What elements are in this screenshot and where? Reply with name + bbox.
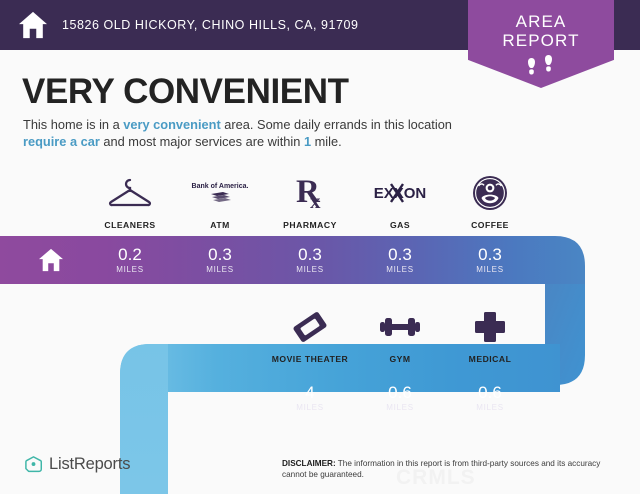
amenity-gas: EXXON GAS: [355, 172, 445, 230]
page-description: This home is in a very convenient area. …: [23, 116, 453, 150]
distance-value: 0.6: [388, 384, 412, 402]
area-report-badge: [468, 0, 614, 88]
distance-unit: MILES: [476, 403, 504, 412]
area-report-page: 15826 OLD HICKORY, CHINO HILLS, CA, 9170…: [0, 0, 640, 494]
distance-unit: MILES: [116, 265, 144, 274]
distance-cell-cleaners: 0.2 MILES: [85, 236, 175, 284]
distance-cell-medical: 0.6 MILES: [445, 374, 535, 422]
distance-value: 4: [305, 384, 314, 402]
desc-highlight-2: require a car: [23, 134, 100, 149]
amenity-pharmacy: R x PHARMACY: [265, 172, 355, 230]
disclaimer-label: DISCLAIMER:: [282, 459, 336, 468]
distance-cell-coffee: 0.3 MILES: [445, 236, 535, 284]
desc-part-1: This home is in a: [23, 117, 123, 132]
amenity-movie-theater: MOVIE THEATER: [265, 306, 355, 364]
amenity-label: PHARMACY: [283, 220, 337, 230]
amenity-label: ATM: [210, 220, 229, 230]
dumbbell-icon: [378, 306, 422, 348]
distance-unit: MILES: [296, 403, 324, 412]
amenity-label: MOVIE THEATER: [272, 354, 349, 364]
distance-row-2: 4 MILES 0.6 MILES 0.6 MILES: [265, 374, 535, 422]
distance-cell-atm: 0.3 MILES: [175, 236, 265, 284]
listreports-logo-text: ListReports: [49, 455, 130, 474]
desc-part-4: mile.: [311, 134, 342, 149]
ticket-icon: [292, 306, 328, 348]
distance-unit: MILES: [386, 265, 414, 274]
svg-text:Bank of America.: Bank of America.: [192, 183, 249, 190]
rx-icon: R x: [290, 172, 330, 214]
bank-of-america-logo: Bank of America.: [189, 172, 251, 214]
property-address: 15826 OLD HICKORY, CHINO HILLS, CA, 9170…: [62, 18, 359, 32]
distance-cell-movie-theater: 4 MILES: [265, 374, 355, 422]
amenity-label: GYM: [389, 354, 410, 364]
distance-value: 0.3: [388, 246, 412, 264]
distance-unit: MILES: [386, 403, 414, 412]
desc-highlight-1: very convenient: [123, 117, 220, 132]
amenity-label: GAS: [390, 220, 410, 230]
amenity-medical: MEDICAL: [445, 306, 535, 364]
home-icon: [18, 11, 48, 39]
desc-part-3: and most major services are within: [100, 134, 304, 149]
distance-value: 0.6: [478, 384, 502, 402]
listreports-house-tag-icon: [24, 455, 43, 474]
disclaimer: DISCLAIMER: The information in this repo…: [282, 458, 620, 480]
medical-cross-icon: [473, 306, 507, 348]
amenity-cleaners: CLEANERS: [85, 172, 175, 230]
home-marker-cell: [17, 236, 85, 284]
amenity-label: COFFEE: [471, 220, 509, 230]
distance-value: 0.2: [118, 246, 142, 264]
amenity-label: MEDICAL: [469, 354, 512, 364]
amenity-icon-row-1: CLEANERS Bank of America. ATM R x: [85, 172, 535, 230]
distance-cell-gym: 0.6 MILES: [355, 374, 445, 422]
distance-unit: MILES: [206, 265, 234, 274]
distance-row-1: 0.2 MILES 0.3 MILES 0.3 MILES 0.3 MILES …: [85, 236, 535, 284]
desc-highlight-3: 1: [304, 134, 311, 149]
page-title: VERY CONVENIENT: [22, 72, 349, 112]
amenity-gym: GYM: [355, 306, 445, 364]
amenity-label: CLEANERS: [104, 220, 155, 230]
amenity-atm: Bank of America. ATM: [175, 172, 265, 230]
home-icon: [38, 248, 64, 272]
amenity-coffee: COFFEE: [445, 172, 535, 230]
distance-unit: MILES: [296, 265, 324, 274]
starbucks-logo: [471, 172, 509, 214]
distance-value: 0.3: [478, 246, 502, 264]
listreports-logo: ListReports: [24, 455, 130, 474]
distance-value: 0.3: [208, 246, 232, 264]
distance-unit: MILES: [476, 265, 504, 274]
amenity-icon-row-2: MOVIE THEATER GYM MEDICAL: [265, 306, 535, 364]
distance-cell-pharmacy: 0.3 MILES: [265, 236, 355, 284]
exxon-logo: EXXON: [369, 172, 431, 214]
hanger-icon: [108, 172, 152, 214]
distance-cell-gas: 0.3 MILES: [355, 236, 445, 284]
distance-value: 0.3: [298, 246, 322, 264]
svg-text:x: x: [310, 189, 321, 212]
desc-part-2: area. Some daily errands in this locatio…: [221, 117, 452, 132]
